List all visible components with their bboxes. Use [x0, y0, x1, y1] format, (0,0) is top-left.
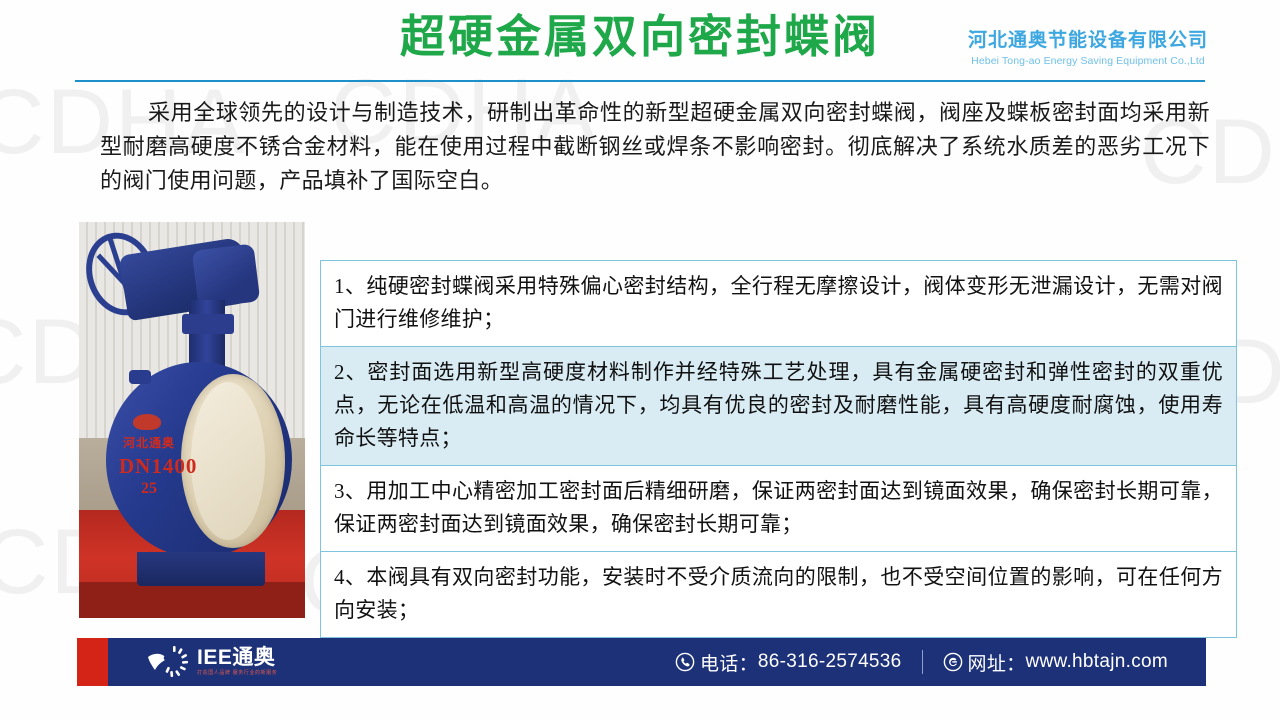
phone-contact: 电话： 86-316-2574536: [675, 649, 902, 676]
slide-header: 超硬金属双向密封蝶阀 河北通奥节能设备有限公司 Hebei Tong-ao En…: [0, 0, 1280, 84]
phone-icon: [675, 652, 695, 672]
valve-disc: [191, 382, 265, 540]
company-name-cn: 河北通奥节能设备有限公司: [968, 30, 1208, 52]
phone-label: 电话：: [700, 649, 758, 676]
valve-gearbox-cap: [192, 243, 261, 308]
slide-canvas: CDHA CDHA CDHA CDHA CDHA CDHA CDHA CDHA …: [0, 0, 1280, 720]
website-label: 网址：: [968, 649, 1026, 676]
feature-item: 3、用加工中心精密加工密封面后精细研磨，保证两密封面达到镜面效果，确保密封长期可…: [321, 466, 1236, 552]
valve-stem-flange: [182, 314, 234, 334]
phone-value: 86-316-2574536: [758, 651, 902, 673]
feature-list: 1、纯硬密封蝶阀采用特殊偏心密封结构，全行程无摩擦设计，阀体变形无泄漏设计，无需…: [320, 260, 1237, 638]
slide-footer: IEE通奥 打造国人品牌 服务行业的新服务 电话： 86-316-2574536: [77, 638, 1206, 686]
header-divider: [75, 80, 1205, 82]
intro-paragraph: 采用全球领先的设计与制造技术，研制出革命性的新型超硬金属双向密封蝶阀，阀座及蝶板…: [100, 96, 1210, 198]
company-logo: IEE通奥 打造国人品牌 服务行业的新服务: [146, 645, 277, 679]
valve-size-text: DN1400: [119, 454, 197, 479]
valve-support-foot: [137, 552, 265, 586]
valve-lifting-lug: [129, 370, 151, 384]
feature-item: 1、纯硬密封蝶阀采用特殊偏心密封结构，全行程无摩擦设计，阀体变形无泄漏设计，无需…: [321, 261, 1236, 347]
company-branding: 河北通奥节能设备有限公司 Hebei Tong-ao Energy Saving…: [968, 30, 1208, 67]
bird-gear-logo-icon: [146, 645, 190, 679]
globe-icon: [943, 652, 963, 672]
valve-brand-text: 河北通奥: [123, 434, 175, 451]
contact-divider: [922, 650, 923, 674]
footer-contact-info: 电话： 86-316-2574536 网址： www.hbtajn.com: [277, 649, 1206, 676]
logo-wordmark: IEE通奥: [197, 647, 277, 669]
website-value: www.hbtajn.com: [1025, 651, 1168, 673]
valve-pressure-text: 25: [141, 480, 157, 498]
product-photo: 河北通奥 DN1400 25: [79, 222, 305, 618]
valve-brand-logo-icon: [133, 414, 161, 430]
photo-floor-front: [79, 582, 305, 618]
logo-tagline: 打造国人品牌 服务行业的新服务: [197, 670, 277, 677]
website-contact: 网址： www.hbtajn.com: [943, 649, 1168, 676]
footer-accent-block: [77, 638, 108, 686]
feature-item: 4、本阀具有双向密封功能，安装时不受介质流向的限制，也不受空间位置的影响，可在任…: [321, 552, 1236, 637]
company-name-en: Hebei Tong-ao Energy Saving Equipment Co…: [968, 55, 1208, 67]
feature-item: 2、密封面选用新型高硬度材料制作并经特殊工艺处理，具有金属硬密封和弹性密封的双重…: [321, 347, 1236, 466]
